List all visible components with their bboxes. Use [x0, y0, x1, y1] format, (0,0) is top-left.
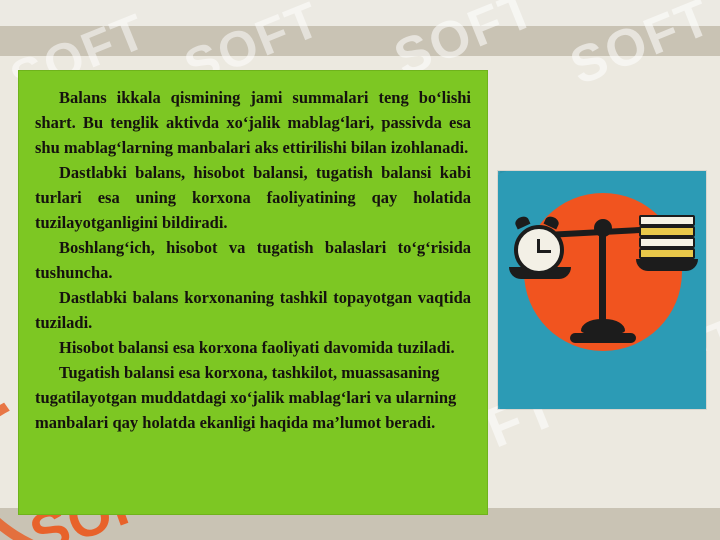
alarm-clock-icon	[514, 225, 564, 275]
background-band-upper	[0, 26, 720, 56]
book-icon	[639, 248, 695, 259]
book-icon	[639, 215, 695, 226]
background-band-top	[0, 0, 720, 26]
paragraph: Dastlabki balans korxonaning tashkil top…	[35, 285, 471, 335]
paragraph: Hisobot balansi esa korxona faoliyati da…	[35, 335, 471, 360]
book-icon	[639, 237, 695, 248]
paragraph: Boshlang‘ich, hisobot va tugatish balasl…	[35, 235, 471, 285]
balance-scale-image	[498, 171, 706, 409]
paragraph: Balans ikkala qismining jami summalari t…	[35, 85, 471, 160]
content-text-panel: Balans ikkala qismining jami summalari t…	[18, 70, 488, 515]
scale-post-icon	[599, 231, 606, 323]
scale-base-plate-icon	[570, 333, 636, 343]
book-icon	[639, 226, 695, 237]
paragraph: Dastlabki balans, hisobot balansi, tugat…	[35, 160, 471, 235]
books-stack-icon	[639, 215, 695, 261]
slide-canvas: SOFT SOFT SOFT SOFT SOFT SOFT SOFT SOFT …	[0, 0, 720, 540]
paragraph: Tugatish balansi esa korxona, tashkilot,…	[35, 360, 471, 435]
